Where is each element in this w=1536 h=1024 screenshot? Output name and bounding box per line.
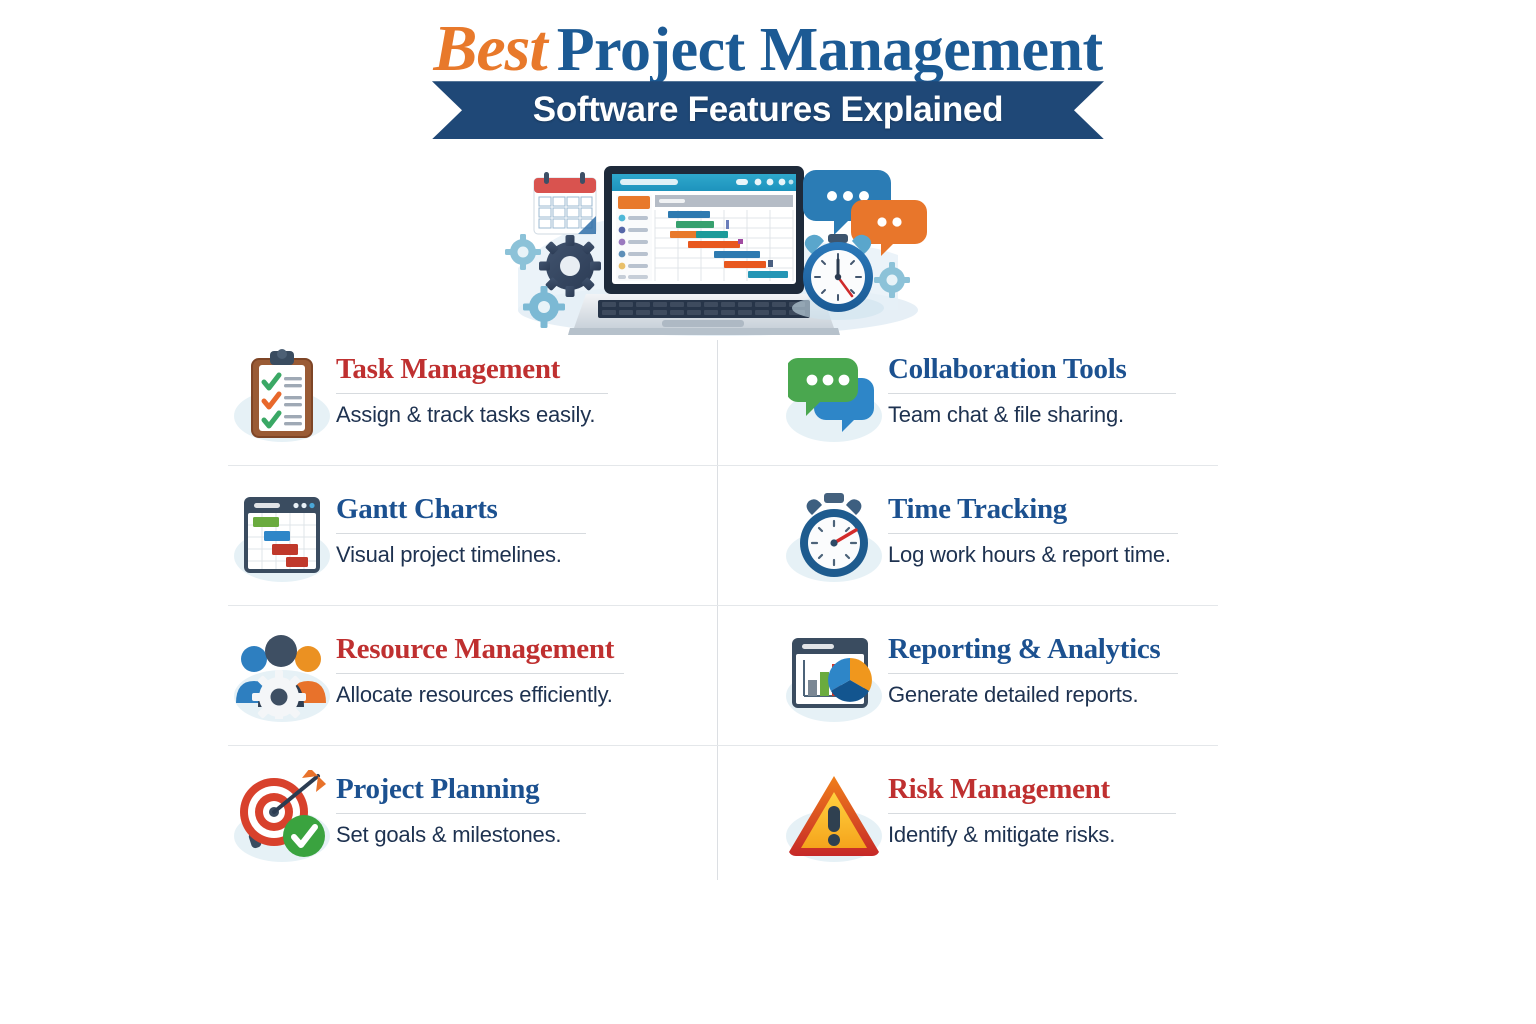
hero-svg (500, 160, 936, 342)
target-arrow-check-icon (228, 760, 336, 870)
feature-title: Risk Management (888, 774, 1250, 806)
feature-title: Project Planning (336, 774, 698, 806)
feature-rule (888, 673, 1178, 674)
bar-pie-chart-icon (780, 620, 888, 730)
feature-description: Visual project timelines. (336, 542, 698, 568)
clipboard-checklist-icon (228, 340, 336, 450)
feature-rule (888, 813, 1176, 814)
feature-rule (336, 393, 608, 394)
feature-rule (336, 813, 586, 814)
feature-title: Time Tracking (888, 494, 1250, 526)
feature-rule (336, 533, 586, 534)
feature-grid: Task Management Assign & track tasks eas… (228, 340, 1218, 880)
subtitle-text: Software Features Explained (533, 90, 1003, 130)
feature-description: Log work hours & report time. (888, 542, 1250, 568)
feature-item-project-planning[interactable]: Project Planning Set goals & milestones. (228, 760, 698, 895)
feature-item-task-management[interactable]: Task Management Assign & track tasks eas… (228, 340, 698, 475)
title-accent-word: Best (433, 12, 556, 85)
hero-illustration (500, 160, 936, 342)
people-gear-icon (228, 620, 336, 730)
feature-item-resource-management[interactable]: Resource Management Allocate resources e… (228, 620, 698, 755)
subtitle-ribbon-wrap: Software Features Explained (0, 81, 1536, 143)
feature-rule (888, 533, 1178, 534)
feature-description: Assign & track tasks easily. (336, 402, 698, 428)
header: BestProject Management Software Features… (0, 14, 1536, 143)
feature-rule (336, 673, 624, 674)
gantt-window-icon (228, 480, 336, 590)
feature-description: Team chat & file sharing. (888, 402, 1250, 428)
feature-item-collaboration-tools[interactable]: Collaboration Tools Team chat & file sha… (780, 340, 1250, 475)
feature-description: Set goals & milestones. (336, 822, 698, 848)
feature-title: Reporting & Analytics (888, 634, 1250, 666)
feature-item-time-tracking[interactable]: Time Tracking Log work hours & report ti… (780, 480, 1250, 615)
feature-description: Generate detailed reports. (888, 682, 1250, 708)
calendar-icon (534, 172, 596, 234)
feature-description: Identify & mitigate risks. (888, 822, 1250, 848)
page-title: BestProject Management (0, 14, 1536, 83)
feature-item-reporting-analytics[interactable]: Reporting & Analytics Generate detailed … (780, 620, 1250, 755)
column-divider (717, 340, 718, 880)
feature-title: Gantt Charts (336, 494, 698, 526)
warning-triangle-icon (780, 760, 888, 870)
feature-title: Collaboration Tools (888, 354, 1250, 386)
title-main-words: Project Management (557, 16, 1103, 84)
feature-title: Task Management (336, 354, 698, 386)
feature-description: Allocate resources efficiently. (336, 682, 698, 708)
feature-rule (888, 393, 1176, 394)
stopwatch-icon (780, 480, 888, 590)
subtitle-ribbon: Software Features Explained (432, 81, 1104, 139)
feature-title: Resource Management (336, 634, 698, 666)
feature-item-risk-management[interactable]: Risk Management Identify & mitigate risk… (780, 760, 1250, 895)
chat-bubbles-icon (780, 340, 888, 450)
infographic-page: BestProject Management Software Features… (0, 0, 1536, 1024)
feature-item-gantt-charts[interactable]: Gantt Charts Visual project timelines. (228, 480, 698, 615)
